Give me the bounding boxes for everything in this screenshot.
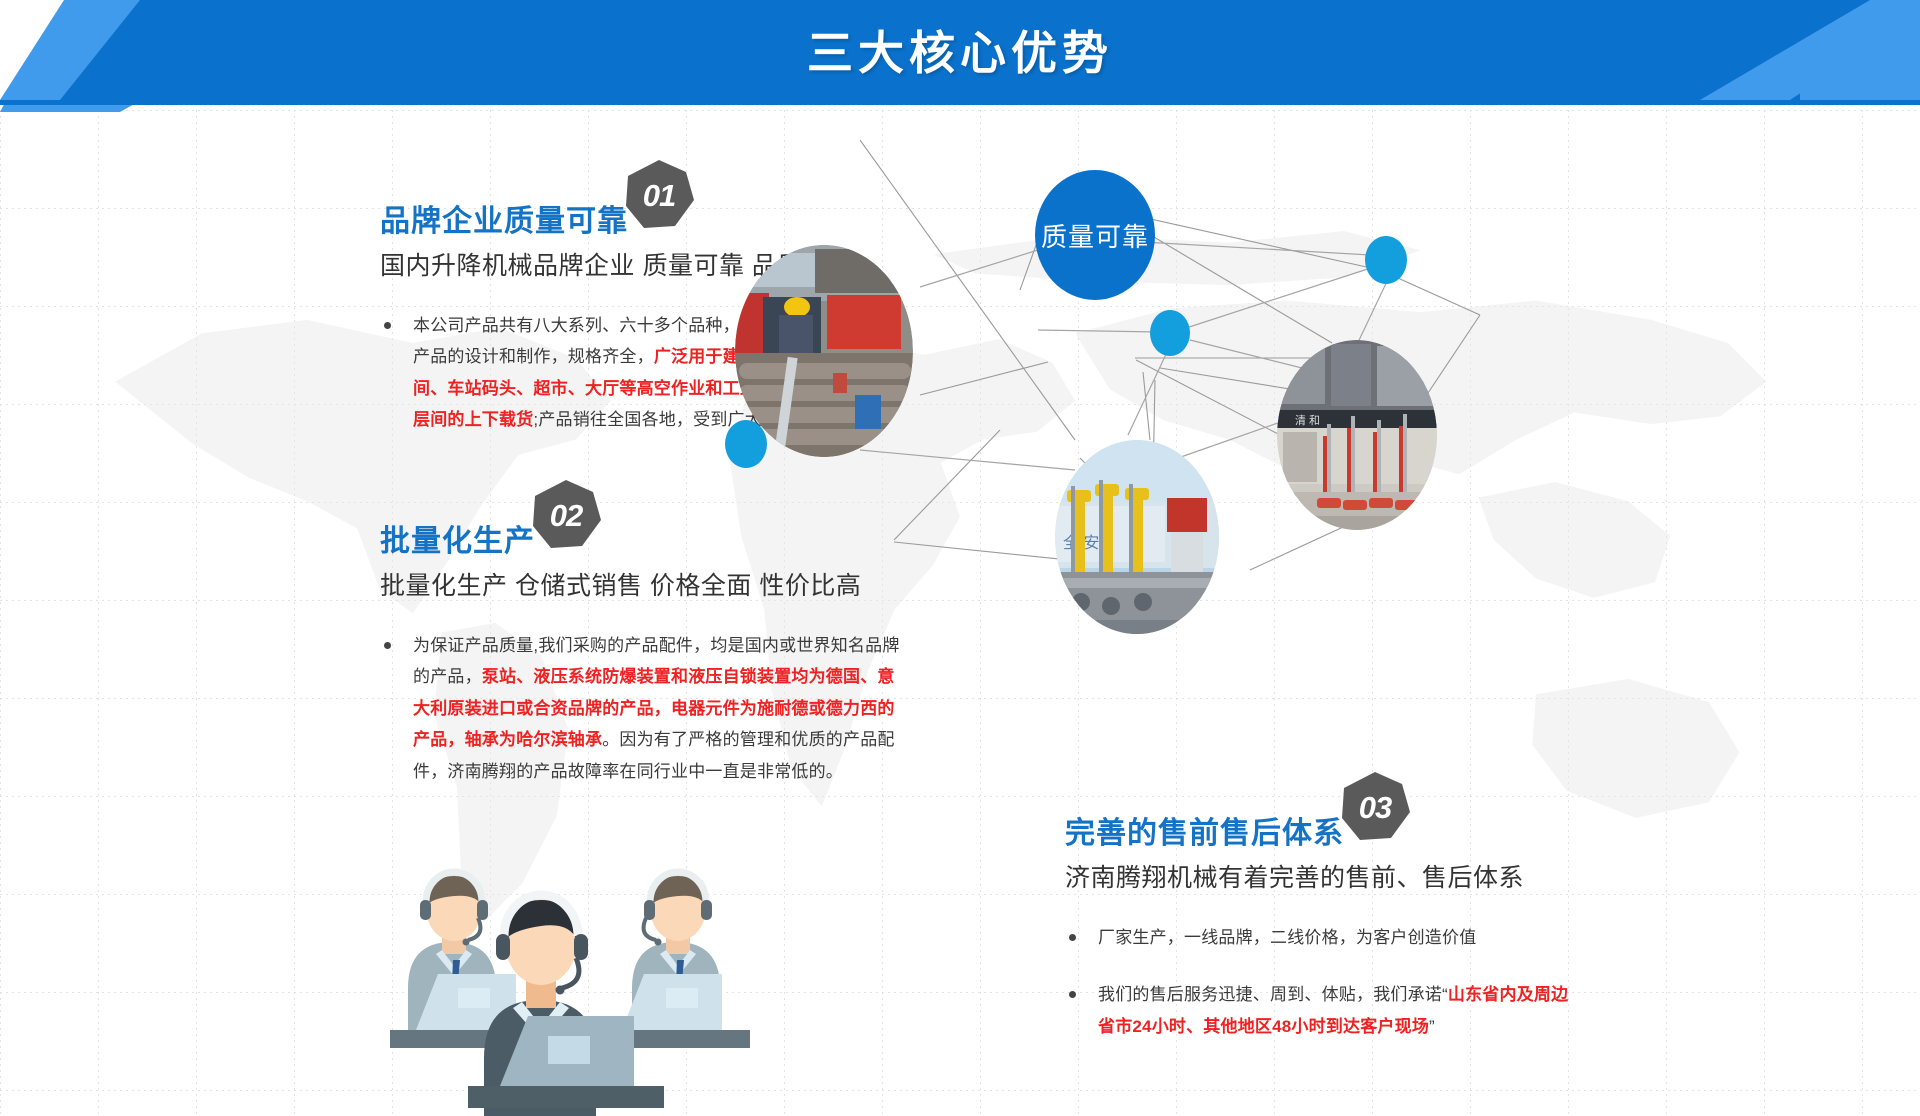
bullet-dot-icon [384,642,391,649]
block-02-bullets: 为保证产品质量,我们采购的产品配件，均是国内或世界知名品牌的产品，泵站、液压系统… [380,630,900,787]
block-01-head: 品牌企业质量可靠 01 [380,158,900,238]
block-03-title: 完善的售前售后体系 [1065,817,1344,850]
lift-products-showroom-photo: 清 和 [1277,340,1437,530]
bullet-item: 我们的售后服务迅捷、周到、体贴，我们承诺“山东省内及周边省市24小时、其他地区4… [1065,979,1585,1042]
network-node-2 [1150,310,1190,356]
page-header-banner: 三大核心优势 [0,0,1920,112]
bullet-text: 厂家生产，一线品牌，二线价格，为客户创造价值 [1098,922,1476,953]
block-02-title: 批量化生产 [380,525,535,558]
grid-line-vertical [98,110,99,1116]
block-02-number: 02 [529,479,603,553]
bullet-text: 为保证产品质量,我们采购的产品配件，均是国内或世界知名品牌的产品，泵站、液压系统… [413,630,900,787]
block-02-head: 批量化生产 02 [380,478,900,558]
grid-line-horizontal [0,698,1920,699]
grid-line-horizontal [0,1090,1920,1091]
block-01-number: 01 [622,159,696,233]
network-node-1 [1365,236,1407,284]
advantage-block-03: 完善的售前售后体系 03 济南腾翔机械有着完善的售前、售后体系 厂家生产，一线品… [1065,770,1585,1068]
block-03-number-badge: 03 [1338,770,1412,844]
block-03-subtitle: 济南腾翔机械有着完善的售前、售后体系 [1065,858,1585,894]
page-root: 三大核心优势 品牌企业质量可靠 01 国内升降机械品牌企业 质量可靠 品质保证 … [0,0,1920,1116]
block-03-bullets: 厂家生产，一线品牌，二线价格，为客户创造价值我们的售后服务迅捷、周到、体贴，我们… [1065,922,1585,1042]
page-title: 三大核心优势 [0,0,1920,100]
quality-network-diagram: 质量可靠 [860,140,1920,660]
bullet-dot-icon [384,322,391,329]
plain-text: 我们的售后服务迅捷、周到、体贴，我们承诺“ [1098,985,1448,1004]
block-02-subtitle: 批量化生产 仓储式销售 价格全面 性价比高 [380,566,900,602]
plain-text: 厂家生产，一线品牌，二线价格，为客户创造价值 [1098,928,1476,947]
block-01-number-badge: 01 [622,158,696,232]
grid-line-vertical [294,110,295,1116]
block-03-head: 完善的售前售后体系 03 [1065,770,1585,850]
bullet-item: 为保证产品质量,我们采购的产品配件，均是国内或世界知名品牌的产品，泵站、液压系统… [380,630,900,787]
bullet-dot-icon [1069,934,1076,941]
block-03-number: 03 [1338,771,1412,845]
aerial-work-platform-photo: 全 安 [1055,440,1220,635]
grid-line-horizontal [0,796,1920,797]
call-center-team-illustration [350,790,780,1116]
bullet-item: 厂家生产，一线品牌，二线价格，为客户创造价值 [1065,922,1585,953]
grid-line-vertical [196,110,197,1116]
block-01-title: 品牌企业质量可靠 [380,205,628,238]
grid-line-horizontal [0,992,1920,993]
factory-worker-photo [735,245,913,457]
svg-text:清 和: 清 和 [1295,414,1320,427]
hub-circle-quality: 质量可靠 [1035,170,1155,300]
grid-line-horizontal [0,894,1920,895]
grid-line-vertical [0,110,1,1116]
hub-circle-label: 质量可靠 [1041,217,1149,254]
advantage-block-02: 批量化生产 02 批量化生产 仓储式销售 价格全面 性价比高 为保证产品质量,我… [380,478,900,813]
bullet-dot-icon [1069,991,1076,998]
plain-text: ” [1429,1017,1435,1036]
block-02-number-badge: 02 [529,478,603,552]
bullet-text: 我们的售后服务迅捷、周到、体贴，我们承诺“山东省内及周边省市24小时、其他地区4… [1098,979,1585,1042]
